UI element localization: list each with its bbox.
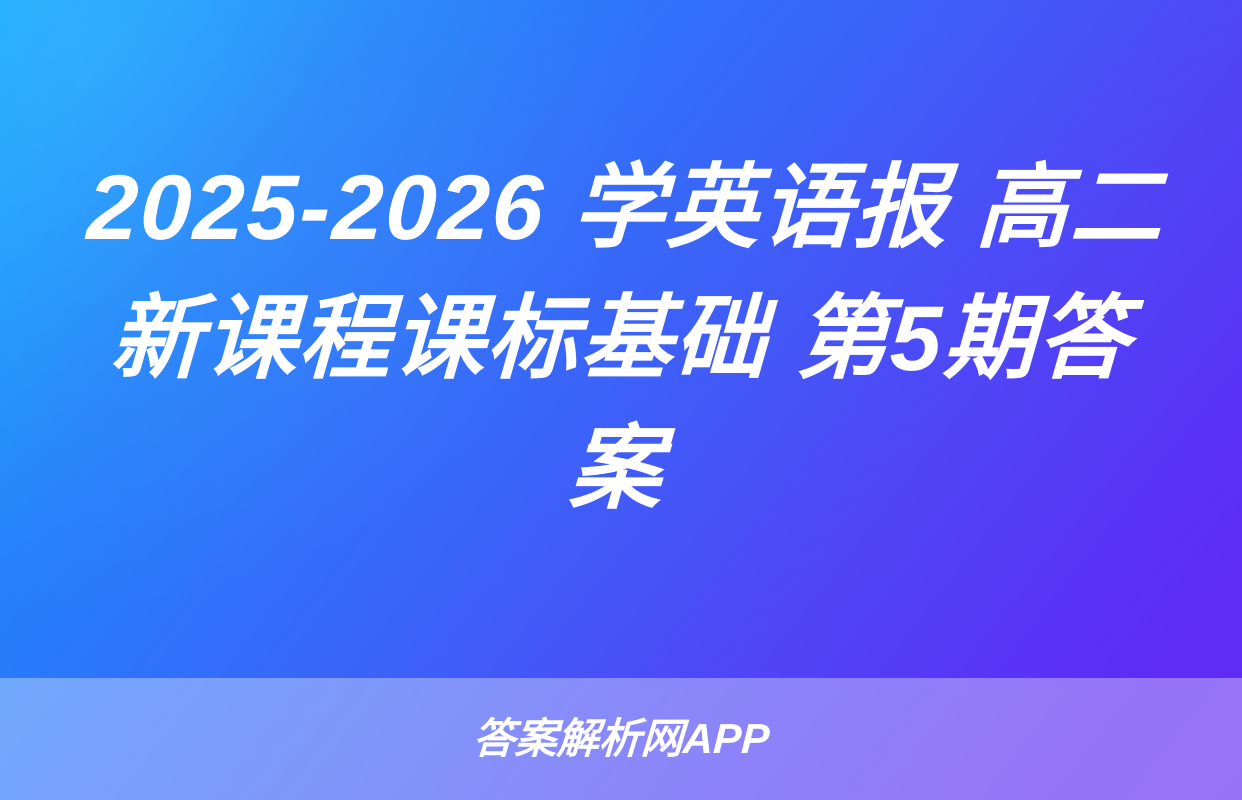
title-container: 2025-2026 学英语报 高二 新课程课标基础 第5期答案 [0, 0, 1242, 678]
app-watermark-label: 答案解析网APP [472, 718, 771, 760]
page-title: 2025-2026 学英语报 高二 新课程课标基础 第5期答案 [69, 143, 1173, 535]
poster-card: 2025-2026 学英语报 高二 新课程课标基础 第5期答案 答案解析网APP [0, 0, 1242, 800]
footer-watermark-band: 答案解析网APP [0, 678, 1242, 800]
